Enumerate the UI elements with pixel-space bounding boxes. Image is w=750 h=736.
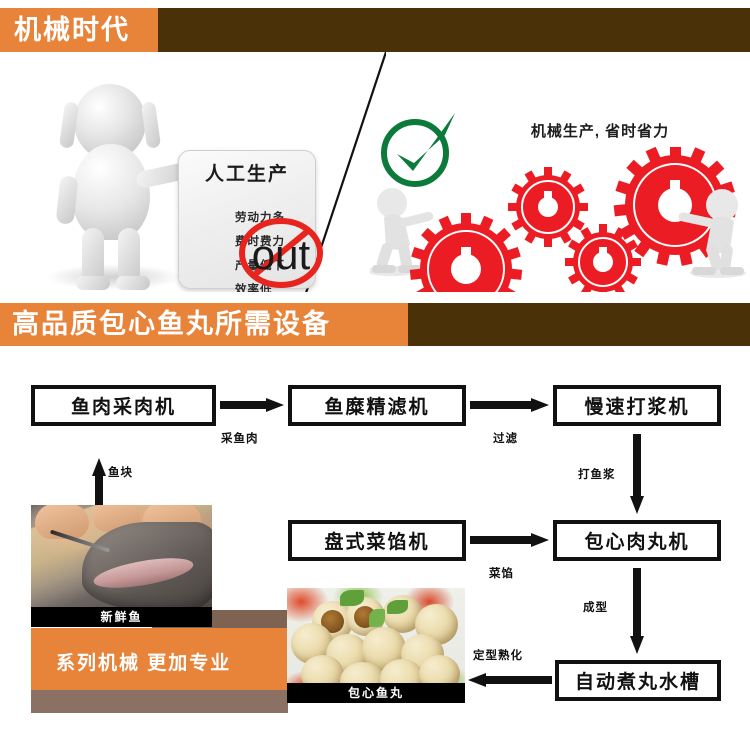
label-set-cook: 定型熟化 [473, 647, 523, 663]
photo-stuffed-balls: 包心鱼丸 [287, 588, 465, 703]
label-take-meat: 采鱼肉 [221, 430, 259, 446]
section-banner: 高品质包心鱼丸所需设备 [0, 303, 750, 346]
machine-headline: 机械生产, 省时省力 [490, 120, 710, 141]
hero-section: 人工生产 劳动力多 费时费力 产量低下 效率低 out 机械生产, 省时省力 [0, 52, 750, 292]
arrow-take-meat [220, 398, 284, 412]
top-banner: 机械时代 [0, 8, 750, 52]
label-filling: 菜馅 [489, 565, 514, 581]
arrow-set-cook [468, 673, 552, 687]
label-filter: 过滤 [493, 430, 518, 446]
gear-icon [410, 213, 522, 292]
arrow-fish-block [92, 458, 106, 510]
bottom-band-text: 系列机械 更加专业 [56, 648, 231, 675]
page-root: 机械时代 人工生产 劳动力多 费时费力 [0, 0, 750, 736]
box-tray-filling[interactable]: 盘式菜馅机 [288, 520, 466, 561]
box-auto-boiling-tank[interactable]: 自动煮丸水槽 [555, 660, 721, 701]
out-stamp-text: out [244, 228, 318, 282]
manual-production-title: 人工生产 [179, 159, 315, 186]
box-slow-beater[interactable]: 慢速打浆机 [553, 385, 721, 426]
section-banner-title: 高品质包心鱼丸所需设备 [12, 306, 331, 343]
box-fish-meat-separator[interactable]: 鱼肉采肉机 [31, 385, 216, 426]
box-surimi-refiner[interactable]: 鱼糜精滤机 [288, 385, 466, 426]
top-banner-title: 机械时代 [14, 12, 154, 48]
box-stuffed-ball[interactable]: 包心肉丸机 [553, 520, 721, 561]
photo-fresh-fish: 新鲜鱼 [31, 505, 212, 627]
arrow-forming [630, 568, 644, 654]
arrow-filling [470, 533, 549, 547]
arrow-beat-paste [630, 434, 644, 514]
photo-stuffed-balls-caption: 包心鱼丸 [287, 683, 465, 703]
photo-fresh-fish-caption: 新鲜鱼 [31, 607, 212, 627]
manual-worker-figure [40, 82, 190, 292]
gears-illustration [370, 147, 750, 292]
label-fish-block: 鱼块 [108, 464, 133, 480]
label-forming: 成型 [583, 599, 608, 615]
gear-icon [508, 167, 588, 247]
band-brown-lower [31, 690, 288, 713]
arrow-filter [470, 398, 549, 412]
equipment-flowchart: 鱼肉采肉机 鱼糜精滤机 慢速打浆机 盘式菜馅机 包心肉丸机 自动煮丸水槽 [0, 346, 750, 736]
label-beat-paste: 打鱼浆 [578, 466, 616, 482]
